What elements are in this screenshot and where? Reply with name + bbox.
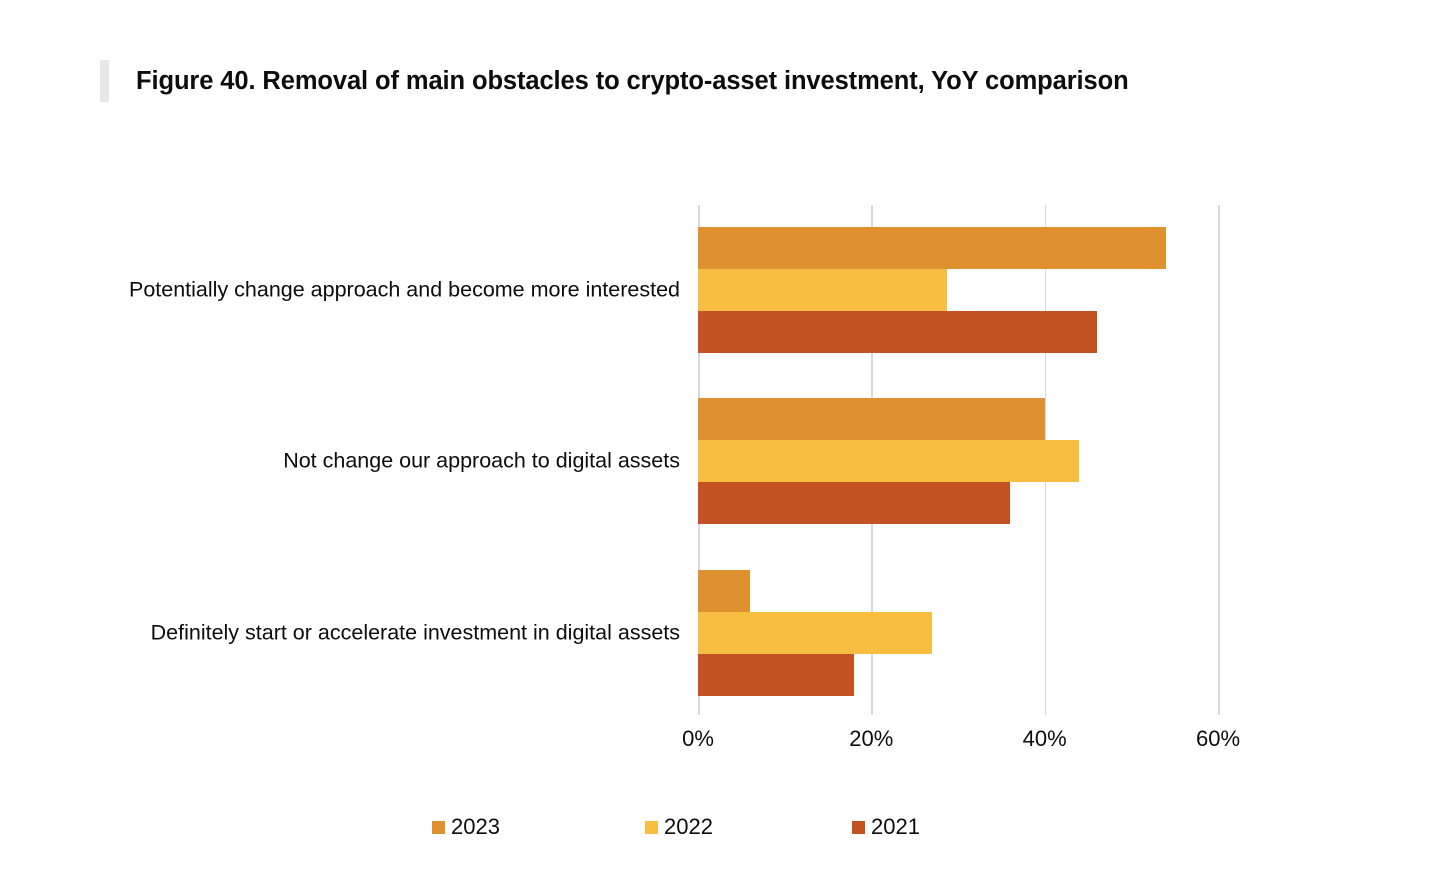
legend-item-2022[interactable]: 2022 [645, 813, 713, 841]
bar-2022-category-1[interactable] [698, 269, 947, 311]
chart-figure: Figure 40. Removal of main obstacles to … [0, 0, 1432, 886]
bar-2023-category-1[interactable] [698, 227, 1166, 269]
legend-label-2021: 2021 [871, 814, 920, 840]
category-label-3: Definitely start or accelerate investmen… [78, 621, 680, 646]
bar-2021-category-1[interactable] [698, 311, 1097, 353]
bar-2023-category-2[interactable] [698, 398, 1045, 440]
bar-2022-category-3[interactable] [698, 612, 932, 654]
category-label-1: Potentially change approach and become m… [78, 278, 680, 303]
bar-2023-category-3[interactable] [698, 570, 750, 612]
bar-2022-category-2[interactable] [698, 440, 1079, 482]
legend-item-2023[interactable]: 2023 [432, 813, 500, 841]
plot-area [698, 205, 1218, 715]
category-label-2: Not change our approach to digital asset… [78, 449, 680, 474]
x-tick-label-40: 40% [1023, 726, 1067, 752]
chart-legend: 202320222021 [0, 813, 1432, 843]
legend-label-2022: 2022 [664, 814, 713, 840]
legend-swatch-icon-2022 [645, 821, 658, 834]
bar-2021-category-3[interactable] [698, 654, 854, 696]
legend-swatch-icon-2023 [432, 821, 445, 834]
gridline-60 [1218, 205, 1220, 715]
bar-2021-category-2[interactable] [698, 482, 1010, 524]
legend-swatch-icon-2021 [852, 821, 865, 834]
legend-label-2023: 2023 [451, 814, 500, 840]
x-tick-label-60: 60% [1196, 726, 1240, 752]
page-title: Figure 40. Removal of main obstacles to … [136, 67, 1129, 96]
title-accent-bar [100, 60, 109, 102]
legend-item-2021[interactable]: 2021 [852, 813, 920, 841]
figure-title-block: Figure 40. Removal of main obstacles to … [100, 58, 1129, 104]
x-tick-label-0: 0% [682, 726, 714, 752]
x-tick-label-20: 20% [849, 726, 893, 752]
